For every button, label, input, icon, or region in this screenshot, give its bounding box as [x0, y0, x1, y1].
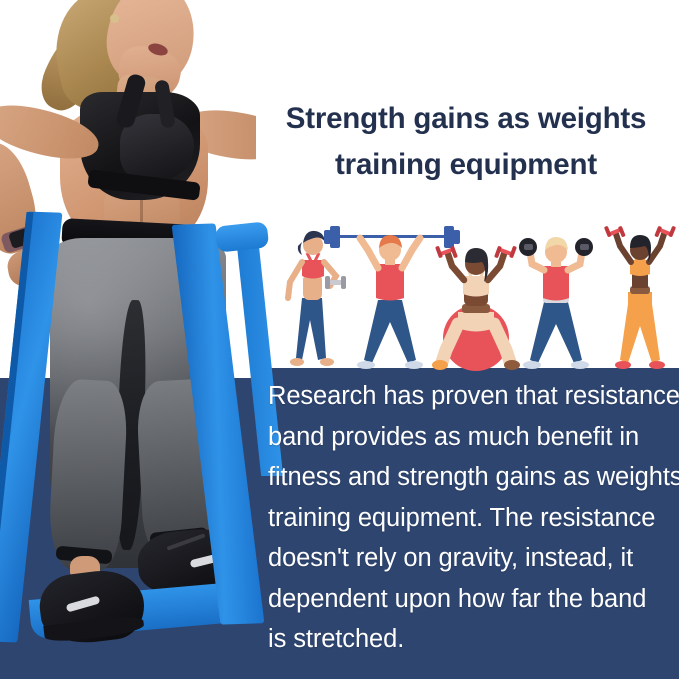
body-paragraph: Research has proven that resistance band… — [268, 376, 672, 660]
body-line-5: doesn't rely on gravity, instead, it — [268, 538, 672, 579]
body-line-6: dependent upon how far the band — [268, 579, 672, 620]
exercise-figures-illustration — [280, 220, 679, 372]
page-title-line-2: training equipment — [266, 142, 666, 188]
page-title: Strength gains as weights training equip… — [266, 96, 666, 188]
page-title-line-1: Strength gains as weights — [266, 96, 666, 142]
exercise-figures-svg — [280, 220, 679, 372]
body-line-2: band provides as much benefit in — [268, 417, 672, 458]
body-line-1: Research has proven that resistance — [268, 376, 672, 417]
earring — [110, 14, 119, 23]
product-infographic: Strength gains as weights training equip… — [0, 0, 679, 679]
figure-woman-dumbbell-curl — [288, 231, 346, 366]
body-line-4: training equipment. The resistance — [268, 498, 672, 539]
dumbbell-icon-left — [519, 238, 537, 256]
dumbbell-icon-right — [575, 238, 593, 256]
body-line-3: fitness and strength gains as weights — [268, 457, 672, 498]
body-line-7: is stretched. — [268, 619, 672, 660]
figure-woman-stability-ball — [432, 246, 520, 371]
figure-man-dumbbell-shoulder-press — [519, 237, 593, 369]
left-leg — [47, 378, 129, 572]
resistance-band-grip — [215, 221, 269, 252]
figure-woman-arms-raised — [604, 226, 676, 369]
figure-man-barbell-overhead-press — [324, 226, 460, 369]
left-ankle — [70, 556, 100, 582]
